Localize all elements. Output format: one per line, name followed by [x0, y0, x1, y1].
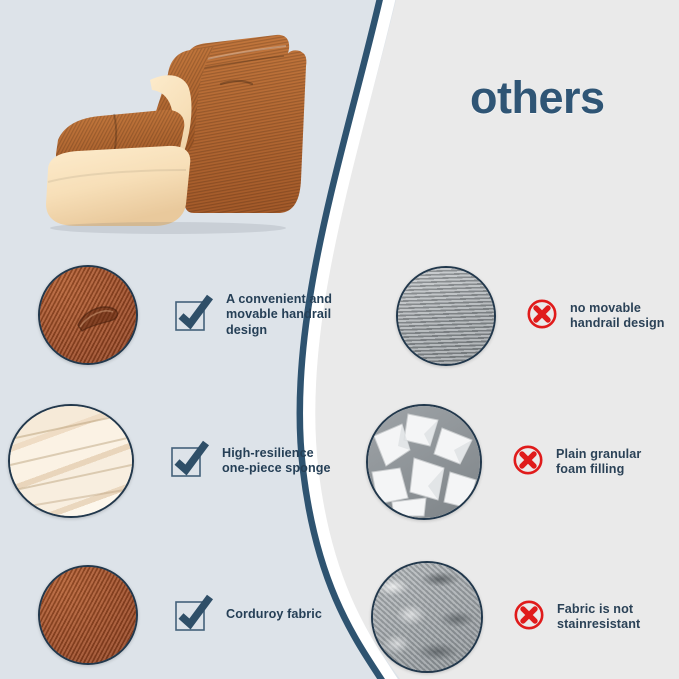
cross-icon [512, 444, 544, 481]
feature-caption: Corduroy fabric [226, 607, 338, 623]
swatch-stained-fabric [371, 561, 483, 673]
corduroy-armchair-illustration [18, 22, 328, 237]
feature-row-right-2: Plain granular foam filling [366, 404, 668, 520]
cross-icon [526, 298, 558, 335]
feature-row-left-1: A convenient and movable handrail design [38, 265, 338, 365]
feature-row-right-1: no movable handrail design [396, 266, 679, 366]
feature-caption: Fabric is not stainresistant [557, 602, 669, 633]
checkmark-icon [172, 292, 214, 339]
swatch-plain-grey-fabric [396, 266, 496, 366]
sponge-layers-detail [10, 406, 132, 516]
feature-caption: no movable handrail design [570, 301, 679, 332]
feature-caption: High-resilience one-piece sponge [222, 446, 334, 477]
cross-icon [513, 599, 545, 636]
feature-row-left-3: Corduroy fabric [38, 565, 338, 665]
swatch-granular-foam [366, 404, 482, 520]
swatch-one-piece-sponge [8, 404, 134, 518]
others-title: others [470, 72, 605, 124]
comparison-infographic: others A convenient and movable handrail… [0, 0, 679, 679]
swatch-corduroy-fabric [38, 565, 138, 665]
swatch-corduroy-handle [38, 265, 138, 365]
checkmark-icon [172, 592, 214, 639]
feature-row-right-3: Fabric is not stainresistant [371, 561, 669, 673]
foam-chunks-detail [368, 406, 480, 518]
handle-strap-detail [40, 267, 136, 363]
feature-caption: Plain granular foam filling [556, 447, 668, 478]
feature-caption: A convenient and movable handrail design [226, 292, 338, 339]
checkmark-icon [168, 438, 210, 485]
hero-product-image [18, 22, 328, 237]
feature-row-left-2: High-resilience one-piece sponge [8, 404, 334, 518]
